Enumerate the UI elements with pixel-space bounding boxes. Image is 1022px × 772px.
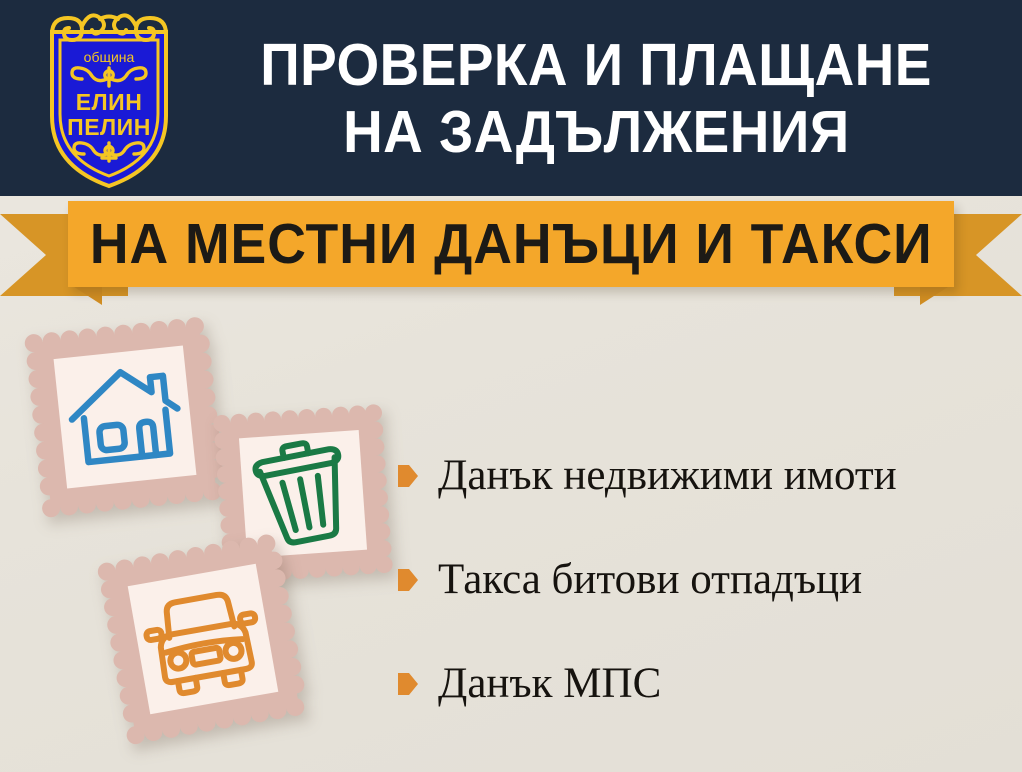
- list-item[interactable]: Такса битови отпадъци: [398, 528, 1010, 632]
- arrow-bullet-icon: [398, 465, 418, 487]
- municipality-crest-logo: община ЕЛИН ПЕЛИН: [38, 8, 180, 190]
- list-item[interactable]: Данък недвижими имоти: [398, 424, 1010, 528]
- list-item[interactable]: Данък МПС: [398, 632, 1010, 736]
- crest-name-line1: ЕЛИН: [76, 89, 143, 115]
- stamp-card-vehicle-tax: [92, 528, 314, 750]
- crest-name-line2: ПЕЛИН: [67, 114, 151, 140]
- list-item-label: Данък недвижими имоти: [438, 453, 897, 498]
- list-item-label: Данък МПС: [438, 661, 661, 706]
- list-item-label: Такса битови отпадъци: [438, 557, 862, 602]
- crest-municipality-word: община: [84, 49, 135, 65]
- poster-canvas: община ЕЛИН ПЕЛИН ПРОВЕРКА И ПЛАЩАНЕ: [0, 0, 1022, 772]
- title-line-1: ПРОВЕРКА И ПЛАЩАНЕ: [260, 32, 932, 99]
- tax-type-list: Данък недвижими имоти Такса битови отпад…: [398, 424, 1010, 736]
- title-line-2: НА ЗАДЪЛЖЕНИЯ: [343, 99, 850, 166]
- ribbon-subtitle: НА МЕСТНИ ДАНЪЦИ И ТАКСИ: [90, 216, 933, 273]
- arrow-bullet-icon: [398, 569, 418, 591]
- ribbon-banner-body: НА МЕСТНИ ДАНЪЦИ И ТАКСИ: [68, 201, 954, 287]
- poster-title: ПРОВЕРКА И ПЛАЩАНЕ НА ЗАДЪЛЖЕНИЯ: [186, 14, 1006, 184]
- arrow-bullet-icon: [398, 673, 418, 695]
